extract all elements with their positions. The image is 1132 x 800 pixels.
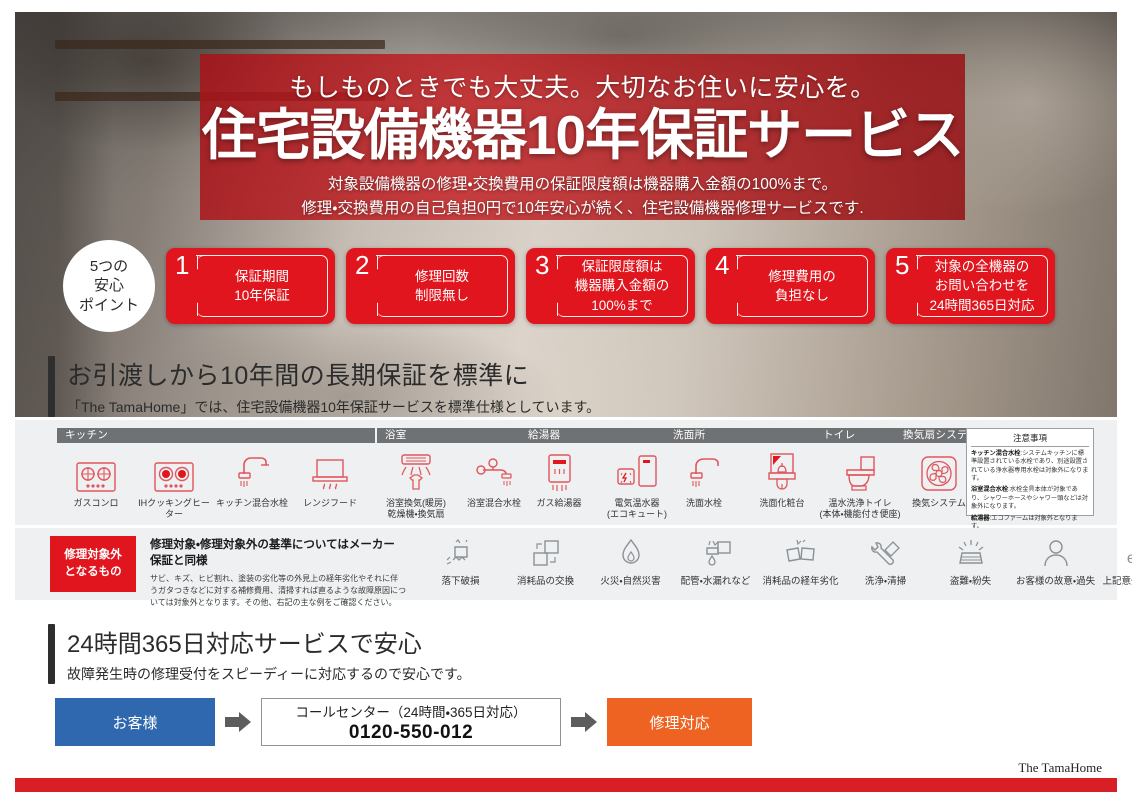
electric-water-heater-icon [613,449,661,494]
ventilation-fan-icon [918,449,960,494]
theft-loss-icon [954,534,988,568]
point-line-2: お問い合わせを [929,276,1034,295]
exclusions-copy: 修理対象・修理対象外の基準についてはメーカー保証と同様 サビ、キズ、ヒビ割れ、塗… [150,536,406,600]
etc-icon: etc [1127,534,1132,568]
badge-line-3: ポイント [79,296,139,316]
exclusion-label: 上記意外の他設備 [1102,573,1132,587]
exclusion-label: 配管・水漏れなど [681,573,751,587]
exclusion-label: 落下破損 [441,573,479,587]
badge-line-2: 安心 [94,276,124,296]
fire-disaster-icon [616,534,646,568]
bath-faucet-icon [471,449,517,494]
bath-dryer-icon [393,449,439,494]
covered-equipment-panel: キッチン ガスコンロ IHクッキングヒーター キッチン混合水栓 [15,420,1117,525]
point-line-1: 対象の全機器の [929,257,1034,276]
kitchen-faucet-icon [230,449,274,494]
equipment-category-kitchen: キッチン ガスコンロ IHクッキングヒーター キッチン混合水栓 [57,428,375,521]
hero-title: 住宅設備機器10年保証サービス [200,106,965,165]
equipment-label: 洗面化粧台 [759,498,804,509]
category-label: 給湯器 [520,428,680,443]
point-number: 5 [895,252,909,278]
support-subheading: 故障発生時の修理受付をスピーディーに対応するので安心です。 [67,664,471,684]
equipment-item: ガス給湯器 [520,449,598,521]
equipment-item: レンジフード [291,449,369,521]
point-card-5: 5 対象の全機器の お問い合わせを 24時間365日対応 [886,248,1055,324]
flow-call-center-box: コールセンター（24時間・365日対応） 0120-550-012 [261,698,561,746]
point-line-3: 24時間365日対応 [929,296,1034,315]
equipment-label: キッチン混合水栓 [216,498,288,509]
standard-warranty-heading-block: お引渡しから10年間の長期保証を標準に 「The TamaHome」では、住宅設… [48,356,600,417]
exclusion-label: お客様の故意・過失 [1016,573,1095,587]
customer-fault-icon [1041,534,1071,568]
point-line-1: 修理費用の [768,267,836,286]
exclusion-item: etc 上記意外の他設備 [1098,534,1132,600]
note-item: 浴室混合水栓:水栓金具本体が対象であり、シャワーホースやシャワー頭などは対象外に… [971,486,1089,511]
point-card-3: 3 保証限度額は 機器購入金額の 100%まで [526,248,695,324]
equipment-item: IHクッキングヒーター [135,449,213,521]
flow-customer-label: お客様 [112,712,157,733]
equipment-label: 換気システム [912,498,966,509]
badge-line-1: 5つの [90,257,128,277]
flow-repair-box: 修理対応 [607,698,752,746]
washbasin-faucet-icon [682,449,726,494]
point-line-2: 10年保証 [234,286,290,305]
flow-arrow-icon [561,711,607,733]
exclusions-tag-line-2: となるもの [64,564,121,581]
exclusion-label: 盗難・紛失 [950,573,991,587]
exclusion-label: 火災・自然災害 [600,573,660,587]
equipment-label: 電気温水器 (エコキュート) [607,498,667,521]
support-heading-block: 24時間365日対応サービスで安心 故障発生時の修理受付をスピーディーに対応する… [48,624,471,684]
exclusion-item: 盗難・紛失 [928,534,1013,600]
footer-red-bar [15,778,1117,792]
five-points-badge: 5つの 安心 ポイント [63,240,155,332]
equipment-category-bathroom: 浴室 浴室換気(暖房) 乾燥機・換気扇 浴室混合水栓 [377,428,536,521]
hero-subtitle: もしものときでも大丈夫。大切なお住いに安心を。 [200,54,965,104]
equipment-label: 浴室混合水栓 [467,498,521,509]
flow-call-center-phone[interactable]: 0120-550-012 [349,722,473,744]
point-line-1: 保証期間 [234,267,290,286]
standard-subheading: 「The TamaHome」では、住宅設備機器10年保証サービスを標準仕様として… [67,397,600,417]
hero-desc-line-1: 対象設備機器の修理・交換費用の保証限度額は機器購入金額の100%まで。 [200,173,965,197]
exclusion-item: 消耗品の経年劣化 [758,534,843,600]
flow-call-center-label: コールセンター（24時間・365日対応） [295,701,526,721]
notes-box: 注意事項 キッチン混合水栓:システムキッチンに標準設置されている水栓であり、別途… [966,428,1094,516]
cleaning-icon [869,534,903,568]
point-line-1: 修理回数 [415,267,469,286]
exclusion-label: 洗浄・清掃 [865,573,906,587]
exclusion-item: 消耗品の交換 [503,534,588,600]
category-label: 浴室 [377,428,536,443]
point-number: 3 [535,252,549,278]
hero-text-block: もしものときでも大丈夫。大切なお住いに安心を。 住宅設備機器10年保証サービス … [200,54,965,221]
heading-accent-bar [48,624,55,684]
category-label: トイレ [815,428,905,443]
equipment-label: ガスコンロ [73,498,118,509]
point-number: 1 [175,252,189,278]
five-points-row: 5つの 安心 ポイント 1 保証期間 10年保証 2 修理回数 制限無し 3 保… [15,240,1117,332]
support-heading: 24時間365日対応サービスで安心 [67,624,471,659]
point-card-1: 1 保証期間 10年保証 [166,248,335,324]
flow-repair-label: 修理対応 [649,712,709,733]
range-hood-icon [308,449,352,494]
exclusions-body: サビ、キズ、ヒビ割れ、塗装の劣化等の外見上の経年劣化やそれに伴うガタつきなどに対… [150,573,406,609]
footer-logo: The TamaHome [1018,760,1102,776]
point-line-1: 保証限度額は [575,257,670,276]
note-term: キッチン混合水栓 [971,450,1021,457]
equipment-label: IHクッキングヒーター [135,498,213,521]
point-line-2: 負担なし [768,286,836,305]
exclusion-item: お客様の故意・過失 [1013,534,1098,600]
exclusions-tag-line-1: 修理対象外 [64,547,122,564]
toilet-icon [839,449,881,494]
support-flow-diagram: お客様 コールセンター（24時間・365日対応） 0120-550-012 修理… [55,698,752,746]
point-line-2: 制限無し [415,286,469,305]
consumable-replace-icon [529,534,563,568]
category-label: 洗面所 [665,428,825,443]
etc-text: etc [1127,550,1132,568]
notes-body: キッチン混合水栓:システムキッチンに標準設置されている水栓であり、別途設置されて… [971,450,1089,531]
gas-water-heater-icon [537,449,581,494]
point-number: 2 [355,252,369,278]
equipment-label: 洗面水栓 [686,498,722,509]
point-card-2: 2 修理回数 制限無し [346,248,515,324]
vanity-icon [760,449,804,494]
equipment-item: ガスコンロ [57,449,135,521]
equipment-item: 温水洗浄トイレ (本体・機能付き便座) [815,449,905,521]
note-term: 給湯器 [971,515,990,522]
exclusion-item: 落下破損 [418,534,503,600]
drop-damage-icon [444,534,478,568]
notes-title: 注意事項 [971,432,1089,447]
consumable-aging-icon [783,534,819,568]
pipe-leak-icon [698,534,734,568]
point-card-4: 4 修理費用の 負担なし [706,248,875,324]
exclusions-tag: 修理対象外 となるもの [50,536,136,592]
flow-customer-box: お客様 [55,698,215,746]
equipment-item: 洗面水栓 [665,449,743,509]
equipment-label: 浴室換気(暖房) 乾燥機・換気扇 [386,498,446,521]
exclusions-heading: 修理対象・修理対象外の基準についてはメーカー保証と同様 [150,536,406,568]
exclusion-item: 洗浄・清掃 [843,534,928,600]
point-line-3: 100%まで [575,296,670,315]
equipment-category-washroom: 洗面所 洗面水栓 洗面化粧台 [665,428,825,509]
equipment-label: 温水洗浄トイレ (本体・機能付き便座) [819,498,900,521]
ih-cooking-heater-icon [152,449,196,494]
standard-heading: お引渡しから10年間の長期保証を標準に [67,356,600,392]
point-line-2: 機器購入金額の [575,276,670,295]
exclusions-panel: 修理対象外 となるもの 修理対象・修理対象外の基準についてはメーカー保証と同様 … [15,528,1117,600]
equipment-item: 洗面化粧台 [743,449,821,509]
equipment-label: ガス給湯器 [536,498,581,509]
exclusion-item: 配管・水漏れなど [673,534,758,600]
note-item: キッチン混合水栓:システムキッチンに標準設置されている水栓であり、別途設置されて… [971,450,1089,483]
exclusions-icon-list: 落下破損 消耗品の交換 火災・自然災害 配管・水漏れなど 消耗品の経年劣化 [418,534,1132,600]
note-term: 浴室混合水栓 [971,486,1008,493]
equipment-label: レンジフード [303,498,357,509]
equipment-item: キッチン混合水栓 [213,449,291,521]
equipment-category-water-heater: 給湯器 ガス給湯器 電気温水器 (エコキュート) [520,428,680,521]
exclusion-label: 消耗品の交換 [517,573,574,587]
exclusion-label: 消耗品の経年劣化 [762,573,838,587]
heading-accent-bar [48,356,55,417]
flow-arrow-icon [215,711,261,733]
exclusion-item: 火災・自然災害 [588,534,673,600]
equipment-category-toilet: トイレ 温水洗浄トイレ (本体・機能付き便座) [815,428,905,521]
category-label: キッチン [57,428,375,443]
hero-desc-line-2: 修理・交換費用の自己負担0円で10年安心が続く、住宅設備機器修理サービスです. [200,197,965,221]
gas-stove-icon [74,449,118,494]
equipment-item: 浴室換気(暖房) 乾燥機・換気扇 [377,449,455,521]
shelf-decor [55,40,385,49]
point-number: 4 [715,252,729,278]
